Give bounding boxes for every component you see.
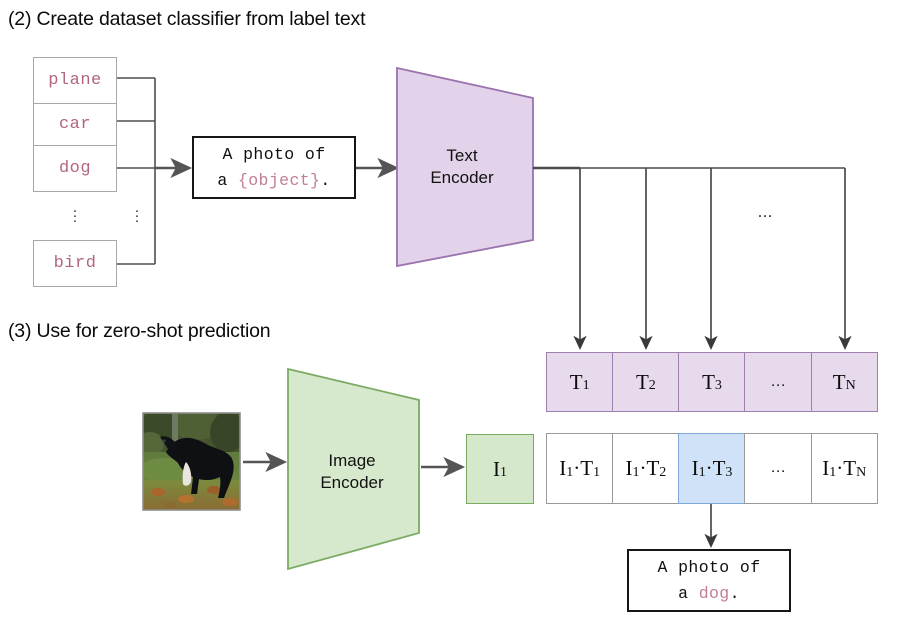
similarity-t-2: T <box>646 456 659 481</box>
text-encoder-label-line1: Text <box>397 145 527 167</box>
text-embedding-cell-2[interactable]: T2 <box>612 352 679 412</box>
similarity-tsub-1: 1 <box>593 465 600 481</box>
similarity-dot-n: · <box>836 456 843 481</box>
clip-diagram: (2) Create dataset classifier from label… <box>0 0 906 624</box>
text-embedding-base-1: T <box>570 370 583 395</box>
text-embedding-base-2: T <box>636 370 649 395</box>
prompt-template-line2: a {object}. <box>217 168 330 194</box>
similarity-cell-n[interactable]: I1·TN <box>811 433 878 504</box>
prediction-suffix: . <box>730 584 740 603</box>
prediction-line2: a dog. <box>678 581 740 607</box>
similarity-isub-3: 1 <box>699 465 706 481</box>
text-embedding-sub-3: 3 <box>715 378 722 394</box>
similarity-row: I1·T1 I1·T2 I1·T3 … I1·TN <box>546 433 878 504</box>
similarity-cell-1[interactable]: I1·T1 <box>546 433 613 504</box>
dog-photo <box>136 408 246 510</box>
similarity-ellipsis: … <box>771 460 786 477</box>
label-box-car[interactable]: car <box>33 103 117 146</box>
similarity-tsub-n: N <box>856 465 866 481</box>
similarity-cell-3-highlighted[interactable]: I1·T3 <box>678 433 745 504</box>
similarity-dot-2: · <box>639 456 646 481</box>
prompt-template-suffix: . <box>320 171 330 190</box>
labels-vertical-ellipsis-right: ... <box>128 205 146 220</box>
similarity-dot-1: · <box>573 456 580 481</box>
image-encoder-label-line2: Encoder <box>288 472 416 494</box>
text-embedding-base-ellipsis: … <box>771 374 786 391</box>
similarity-tsub-3: 3 <box>725 465 732 481</box>
text-embedding-arrows <box>580 168 845 348</box>
text-embedding-base-n: T <box>833 370 846 395</box>
similarity-isub-2: 1 <box>632 465 639 481</box>
labels-vertical-ellipsis-left: ... <box>66 205 84 220</box>
prediction-box[interactable]: A photo of a dog. <box>627 549 791 612</box>
text-embedding-cell-ellipsis: … <box>744 352 811 412</box>
similarity-i-3: I <box>692 456 699 481</box>
similarity-t-1: T <box>580 456 593 481</box>
similarity-i-2: I <box>625 456 632 481</box>
similarity-isub-1: 1 <box>566 465 573 481</box>
label-box-bird[interactable]: bird <box>33 240 117 287</box>
text-embedding-base-3: T <box>702 370 715 395</box>
prompt-template-line1: A photo of <box>222 142 325 168</box>
similarity-tsub-2: 2 <box>659 465 666 481</box>
image-encoder-label: Image Encoder <box>288 450 416 494</box>
similarity-i-n: I <box>822 456 829 481</box>
label-box-dog[interactable]: dog <box>33 145 117 192</box>
similarity-dot-3: · <box>706 456 713 481</box>
prediction-object: dog <box>699 584 730 603</box>
similarity-cell-2[interactable]: I1·T2 <box>612 433 679 504</box>
prompt-template-box[interactable]: A photo of a {object}. <box>192 136 356 199</box>
text-embedding-cell-3[interactable]: T3 <box>678 352 745 412</box>
bus-ellipsis: ... <box>758 204 773 222</box>
similarity-cell-ellipsis: … <box>744 433 811 504</box>
image-embedding-sub: 1 <box>500 465 507 481</box>
similarity-t-n: T <box>843 456 856 481</box>
text-embedding-cell-1[interactable]: T1 <box>546 352 613 412</box>
text-embedding-sub-2: 2 <box>649 378 656 394</box>
image-embedding-cell[interactable]: I1 <box>466 434 534 504</box>
text-embeddings-row: T1 T2 T3 … TN <box>546 352 878 412</box>
similarity-t-3: T <box>713 456 726 481</box>
image-encoder-label-line1: Image <box>288 450 416 472</box>
diagram-vector-layer <box>0 0 906 624</box>
label-box-plane[interactable]: plane <box>33 57 117 104</box>
text-embedding-sub-1: 1 <box>583 378 590 394</box>
prediction-line1: A photo of <box>657 555 760 581</box>
image-embedding-base: I <box>493 457 500 482</box>
text-embedding-sub-n: N <box>846 378 856 394</box>
similarity-i-1: I <box>559 456 566 481</box>
text-embedding-cell-n[interactable]: TN <box>811 352 878 412</box>
heading-step-2: (2) Create dataset classifier from label… <box>8 8 365 31</box>
prompt-template-object: {object} <box>238 171 320 190</box>
label-bracket-connectors <box>117 78 155 264</box>
prediction-prefix: a <box>678 584 699 603</box>
prompt-template-prefix: a <box>217 171 238 190</box>
heading-step-3: (3) Use for zero-shot prediction <box>8 320 270 343</box>
text-encoder-label-line2: Encoder <box>397 167 527 189</box>
similarity-isub-n: 1 <box>829 465 836 481</box>
text-encoder-label: Text Encoder <box>397 145 527 189</box>
